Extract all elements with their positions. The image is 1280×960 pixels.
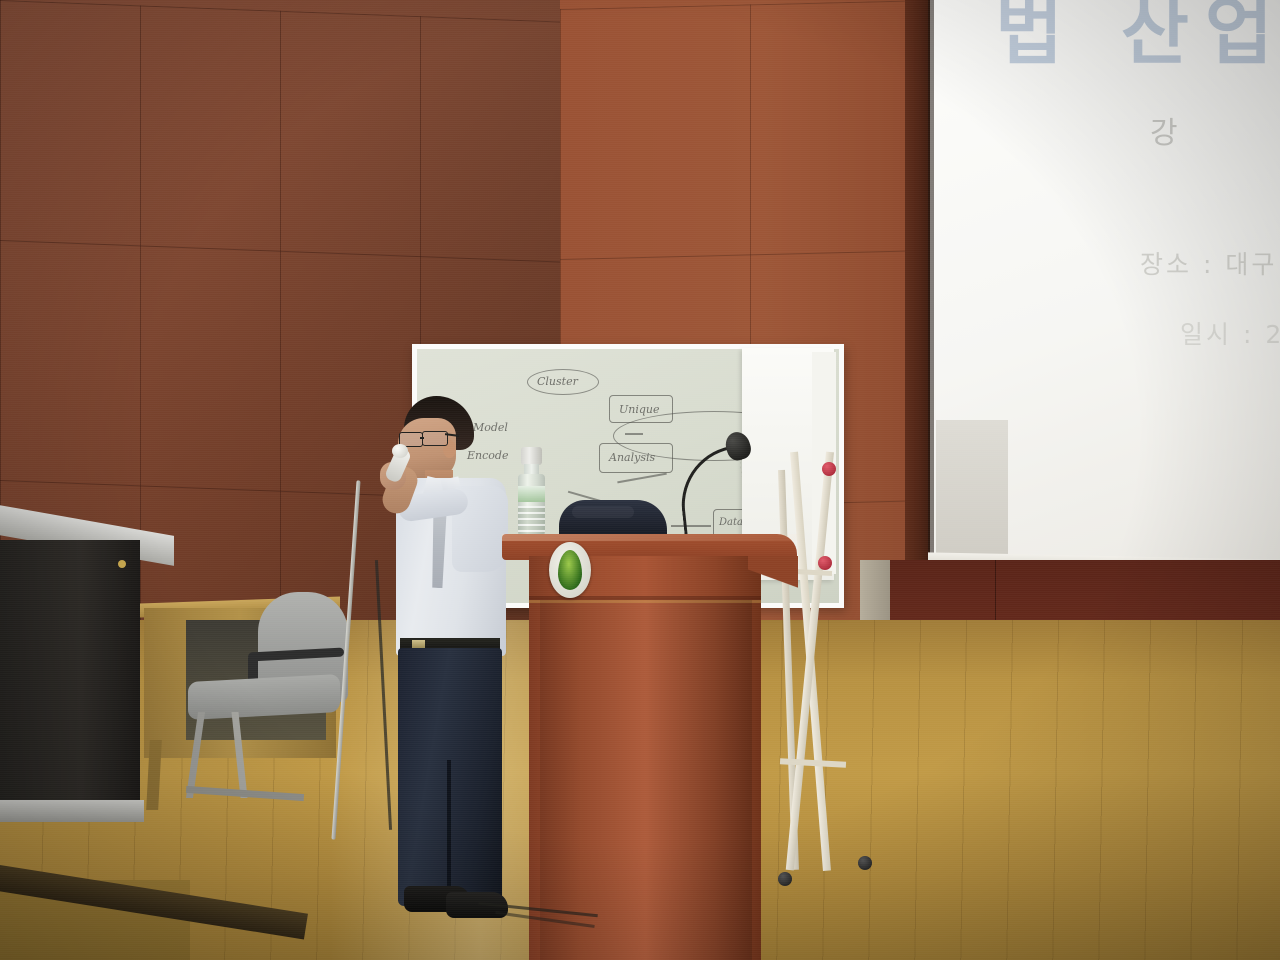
lectern-body — [0, 540, 140, 820]
slide-date-text: 일시 : 2 — [1180, 315, 1280, 351]
screen-left-edge — [928, 0, 934, 572]
microphone-head-icon — [392, 444, 408, 458]
slide-place-text: 장소 : 대구 — [1140, 245, 1277, 281]
leaf-icon — [558, 550, 582, 590]
easel-caster-icon — [858, 856, 872, 870]
lectern-knob-icon — [118, 560, 126, 568]
whiteboard-note: Model — [473, 421, 508, 434]
easel-caster-icon — [778, 872, 792, 886]
lectern-base — [0, 800, 144, 822]
photograph-scene: 법 산업 강 장소 : 대구 일시 : 2 Cluster Unique Mod… — [0, 0, 1280, 960]
slide-title-text: 법 산업 — [995, 0, 1280, 79]
screen-shadow-panel — [936, 420, 1008, 560]
slide-lecturer-text: 강 — [1150, 108, 1184, 152]
whiteboard-ellipse — [527, 369, 599, 395]
bottle-ribs — [518, 506, 545, 536]
chair-seat — [188, 674, 340, 720]
bag-highlight — [572, 506, 634, 518]
bottle-label — [518, 486, 545, 502]
easel-knob-lower-icon — [818, 556, 832, 570]
podium-top-sheen — [502, 534, 797, 541]
podium-side-bevel — [748, 556, 798, 616]
easel-knob-upper-icon — [822, 462, 836, 476]
trouser-seam — [447, 760, 451, 906]
podium-front-panel — [540, 600, 752, 960]
glasses-bridge-icon — [420, 437, 424, 439]
bottle-cap — [521, 447, 542, 465]
whiteboard-note: Encode — [467, 449, 508, 462]
